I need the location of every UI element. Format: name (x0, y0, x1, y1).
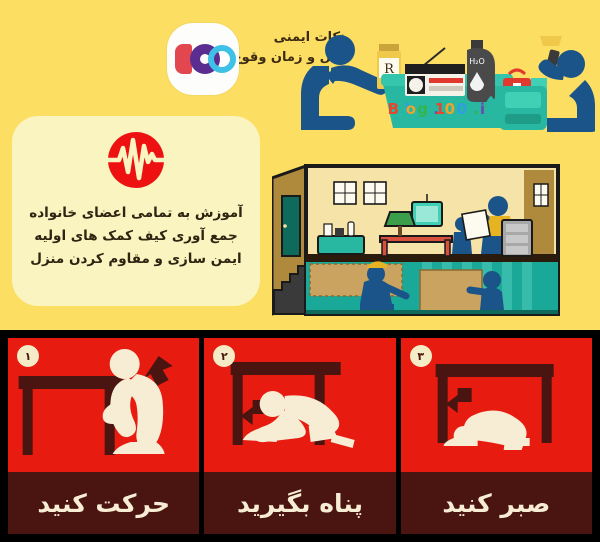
svg-text:.: . (473, 100, 479, 118)
svg-text:o: o (406, 100, 416, 118)
step-number-badge: ۱ (17, 345, 39, 367)
svg-text:0: 0 (445, 100, 455, 118)
step-label-band: پناه بگیرید (204, 472, 395, 534)
infographic-page: نکات ایمنی قبل و زمان وقوع زلزله (0, 0, 600, 542)
svg-text:1: 1 (435, 100, 445, 118)
safety-tips-card: آموزش به تمامی اعضای خانواده جمع آوری کی… (12, 116, 260, 306)
svg-text:0: 0 (457, 100, 467, 118)
radio-icon (405, 48, 465, 96)
step-label-band: صبر کنید (401, 472, 592, 534)
svg-text:g: g (417, 100, 428, 118)
person-waiting-under-table-icon: ۳ (401, 338, 592, 472)
top-section: نکات ایمنی قبل و زمان وقوع زلزله (0, 0, 600, 330)
water-bottle-icon: H₂O (467, 40, 495, 102)
card-text: آموزش به تمامی اعضای خانواده جمع آوری کی… (20, 202, 252, 272)
steps-strip: ۳ (0, 330, 600, 542)
step-panel-move[interactable]: ۱ (8, 338, 199, 534)
step-label-band: حرکت کنید (8, 472, 199, 534)
logo-mark (175, 44, 231, 74)
earthquake-seismograph-icon (108, 132, 164, 188)
person-taking-cover-under-table-icon: ۲ (204, 338, 395, 472)
svg-text:H₂O: H₂O (469, 57, 485, 66)
logo-ring-cyan-icon (208, 45, 236, 73)
step-number-badge: ۳ (410, 345, 432, 367)
house-cutaway-illustration (272, 162, 560, 317)
logo-100 (167, 23, 239, 95)
step-label-text: پناه بگیرید (237, 491, 363, 516)
card-line-3: ایمن سازی و مقاوم کردن منزل (20, 248, 252, 271)
emergency-kit-illustration: R (295, 22, 595, 132)
step-panel-wait[interactable]: ۳ (401, 338, 592, 534)
person-moving-toward-table-icon: ۱ (8, 338, 199, 472)
step-panel-cover[interactable]: ۲ (204, 338, 395, 534)
step-label-text: صبر کنید (442, 491, 550, 516)
card-line-2: جمع آوری کیف کمک های اولیه (20, 225, 252, 248)
steps-panels: ۳ (8, 338, 592, 534)
card-line-1: آموزش به تمامی اعضای خانواده (20, 202, 252, 225)
svg-text:B: B (388, 100, 399, 118)
figure-left-icon (301, 35, 388, 130)
step-label-text: حرکت کنید (37, 491, 170, 516)
